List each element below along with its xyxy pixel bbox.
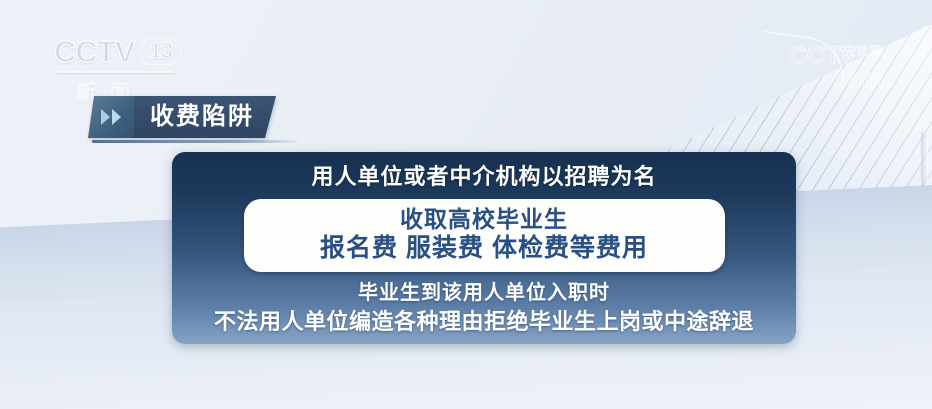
highlight-line-2: 报名费 服装费 体检费等费用 bbox=[254, 234, 715, 264]
watermark-cn-label: 央视网 bbox=[843, 42, 882, 59]
banner-title-text: 收费陷阱 bbox=[150, 105, 254, 129]
section-title-banner: 收费陷阱 bbox=[88, 96, 276, 138]
cctv-wordmark: CCTV bbox=[54, 36, 134, 67]
highlight-callout-box: 收取高校毕业生 报名费 服装费 体检费等费用 bbox=[244, 199, 725, 273]
info-panel: 用人单位或者中介机构以招聘为名 收取高校毕业生 报名费 服装费 体检费等费用 毕… bbox=[172, 152, 796, 344]
panel-footer-text: 毕业生到该用人单位入职时 不法用人单位编造各种理由拒绝毕业生上岗或中途辞退 bbox=[214, 280, 754, 335]
cctv13-logo: CCTV 13 新闻 bbox=[54, 36, 204, 105]
banner-accent-block bbox=[88, 96, 134, 138]
cctv-logo-row: CCTV 13 bbox=[54, 36, 204, 67]
banner-shape: 收费陷阱 bbox=[88, 96, 276, 138]
cctv-com-watermark: 央视网 CCTV com bbox=[789, 44, 884, 92]
footer-line-1: 毕业生到该用人单位入职时 bbox=[214, 280, 754, 306]
channel-number: 13 bbox=[139, 38, 181, 65]
panel-heading: 用人单位或者中介机构以招聘为名 bbox=[311, 163, 656, 191]
chevron-right-icon bbox=[112, 109, 121, 125]
footer-line-2: 不法用人单位编造各种理由拒绝毕业生上岗或中途辞退 bbox=[214, 307, 754, 336]
highlight-line-1: 收取高校毕业生 bbox=[254, 206, 715, 233]
chevron-right-icon bbox=[101, 109, 110, 125]
banner-title-block: 收费陷阱 bbox=[134, 96, 276, 138]
logo-divider bbox=[56, 71, 174, 73]
banner-underline bbox=[92, 140, 302, 143]
